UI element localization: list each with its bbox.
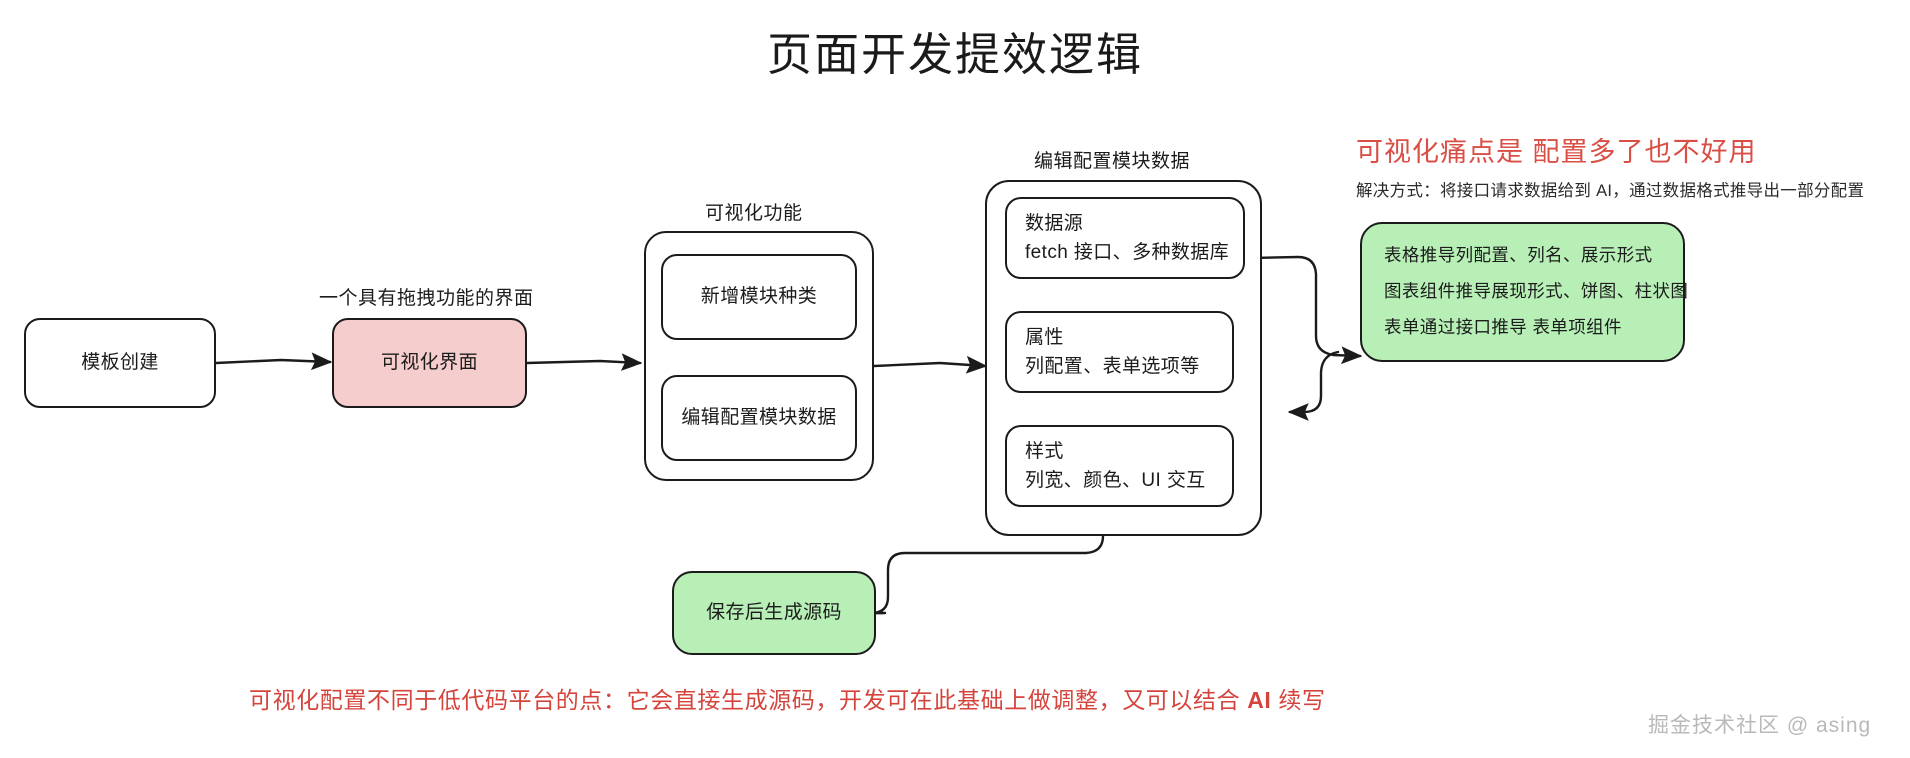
node-edit-config-module-label: 编辑配置模块数据 <box>681 403 836 432</box>
annotation-footer: 可视化配置不同于低代码平台的点：它会直接生成源码，开发可在此基础上做调整，又可以… <box>249 681 1326 715</box>
node-visual-ui[interactable]: 可视化界面 <box>332 318 527 408</box>
node-add-module-type[interactable]: 新增模块种类 <box>661 254 857 340</box>
node-data-source-detail: fetch 接口、多种数据库 <box>1025 238 1225 267</box>
node-template-create-label: 模板创建 <box>81 348 159 377</box>
arrow-features-to-editconfig <box>874 363 985 366</box>
page-title: 页面开发提效逻辑 <box>0 18 1910 83</box>
node-save-generate-code-label: 保存后生成源码 <box>706 598 842 627</box>
node-styles[interactable]: 样式 列宽、颜色、UI 交互 <box>1005 425 1234 507</box>
node-save-generate-code[interactable]: 保存后生成源码 <box>672 571 876 655</box>
caption-visual-features: 可视化功能 <box>705 198 803 225</box>
node-attributes[interactable]: 属性 列配置、表单选项等 <box>1005 311 1234 393</box>
arrow-ai-back-to-editconfig <box>1290 352 1338 412</box>
watermark: 掘金技术社区 @ asing <box>1648 709 1871 739</box>
node-template-create[interactable]: 模板创建 <box>24 318 216 408</box>
node-edit-config-module[interactable]: 编辑配置模块数据 <box>661 375 857 461</box>
diagram-canvas: 页面开发提效逻辑 <box>0 0 1910 758</box>
node-ai-suggestions-line2: 图表组件推导展现形式、饼图、柱状图 <box>1384 274 1661 310</box>
caption-edit-module-data: 编辑配置模块数据 <box>1034 146 1190 173</box>
node-styles-detail: 列宽、颜色、UI 交互 <box>1025 466 1214 495</box>
node-attributes-detail: 列配置、表单选项等 <box>1025 352 1214 381</box>
arrow-datasource-to-ai <box>1252 257 1360 356</box>
node-attributes-title: 属性 <box>1025 323 1214 352</box>
annotation-footer-part1: 可视化配置不同于低代码平台的点：它会直接生成源码，开发可在此基础上做调整，又可以… <box>249 687 1247 713</box>
node-visual-ui-label: 可视化界面 <box>381 348 478 377</box>
node-ai-suggestions[interactable]: 表格推导列配置、列名、展示形式 图表组件推导展现形式、饼图、柱状图 表单通过接口… <box>1360 222 1685 362</box>
node-add-module-type-label: 新增模块种类 <box>701 282 817 311</box>
node-ai-suggestions-line1: 表格推导列配置、列名、展示形式 <box>1384 238 1661 274</box>
arrow-template-to-visualui <box>216 360 330 363</box>
annotation-solution: 解决方式：将接口请求数据给到 AI，通过数据格式推导出一部分配置 <box>1356 177 1864 201</box>
arrow-visualui-to-features <box>527 361 640 363</box>
annotation-footer-ai: AI <box>1247 687 1271 713</box>
node-data-source[interactable]: 数据源 fetch 接口、多种数据库 <box>1005 197 1245 279</box>
annotation-footer-part2: 续写 <box>1271 687 1325 713</box>
annotation-pain-point: 可视化痛点是 配置多了也不好用 <box>1356 130 1757 169</box>
connector-layer <box>0 0 1910 758</box>
node-ai-suggestions-line3: 表单通过接口推导 表单项组件 <box>1384 310 1661 346</box>
node-data-source-title: 数据源 <box>1025 209 1225 238</box>
caption-drag-ui: 一个具有拖拽功能的界面 <box>319 283 534 310</box>
node-styles-title: 样式 <box>1025 437 1214 466</box>
